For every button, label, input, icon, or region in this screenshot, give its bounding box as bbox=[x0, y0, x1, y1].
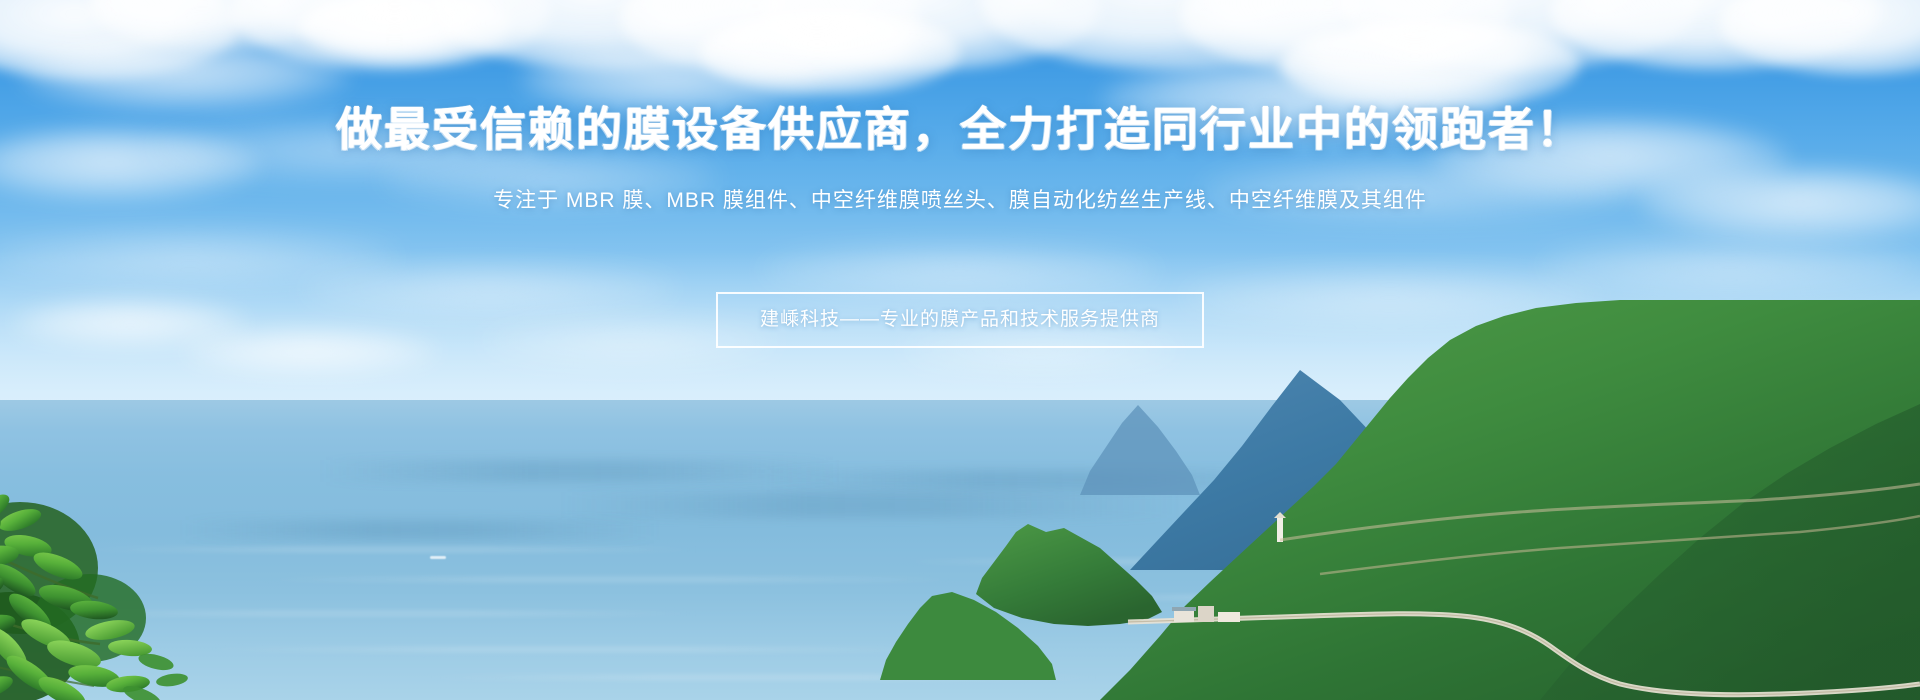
banner-subtitle: 专注于 MBR 膜、MBR 膜组件、中空纤维膜喷丝头、膜自动化纺丝生产线、中空纤… bbox=[0, 186, 1920, 216]
banner-tagline-box: 建嵊科技——专业的膜产品和技术服务提供商 bbox=[716, 292, 1204, 348]
text-overlay: 做最受信赖的膜设备供应商，全力打造同行业中的领跑者！ 专注于 MBR 膜、MBR… bbox=[0, 0, 1920, 700]
banner-tagline-container: 建嵊科技——专业的膜产品和技术服务提供商 bbox=[0, 292, 1920, 348]
hero-banner: 做最受信赖的膜设备供应商，全力打造同行业中的领跑者！ 专注于 MBR 膜、MBR… bbox=[0, 0, 1920, 700]
banner-headline: 做最受信赖的膜设备供应商，全力打造同行业中的领跑者！ bbox=[0, 103, 1920, 155]
